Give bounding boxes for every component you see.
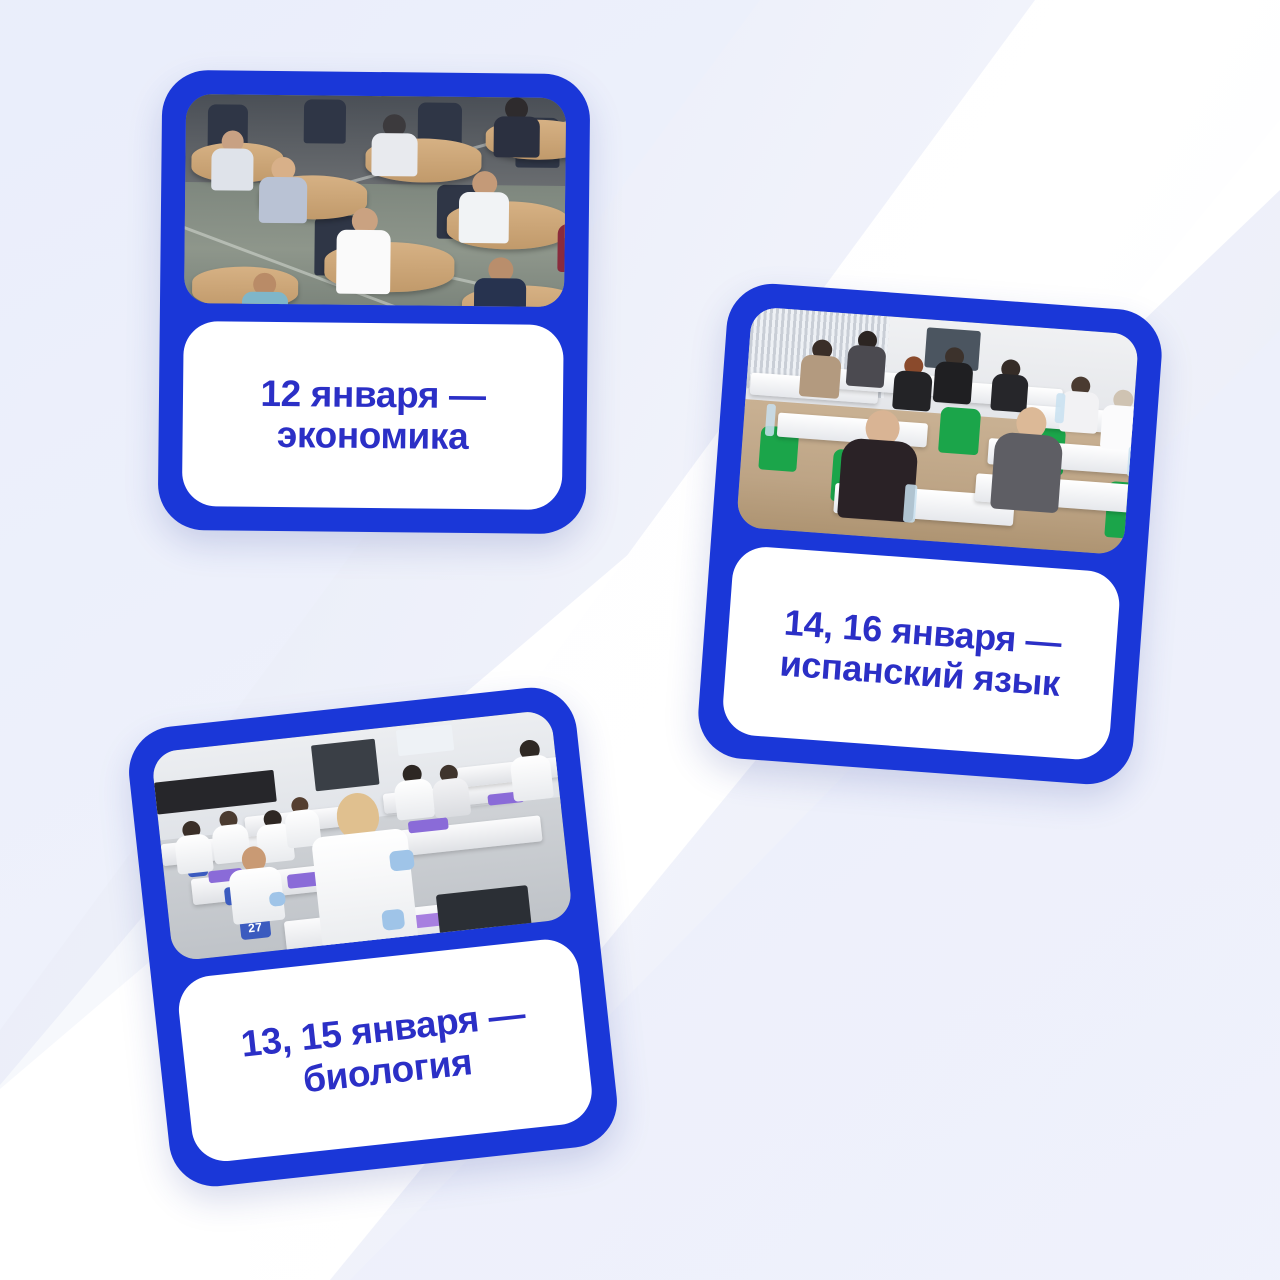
card-photo-biology: 33 30 27 bbox=[151, 710, 573, 962]
chair bbox=[304, 99, 346, 143]
participant bbox=[798, 338, 844, 399]
participant bbox=[173, 819, 214, 875]
green-chair bbox=[938, 406, 981, 455]
participant bbox=[492, 97, 543, 158]
photo-scene-exam-hall bbox=[184, 94, 566, 307]
card-label-biology: 13, 15 января — биология bbox=[175, 936, 595, 1164]
card-label-text: 13, 15 января — биология bbox=[239, 994, 532, 1107]
schedule-card-biology[interactable]: 33 30 27 bbox=[124, 683, 621, 1191]
participant bbox=[209, 130, 256, 190]
participant bbox=[508, 738, 554, 802]
participant bbox=[891, 355, 935, 412]
participant bbox=[226, 844, 286, 925]
participant bbox=[334, 208, 393, 295]
participant bbox=[472, 257, 529, 307]
participant bbox=[556, 206, 566, 272]
participant-foreground bbox=[307, 788, 420, 957]
water-bottle bbox=[1127, 446, 1138, 477]
card-label-spanish: 14, 16 января — испанский язык bbox=[721, 545, 1122, 762]
card-label-economics: 12 января — экономика bbox=[182, 321, 564, 510]
participant bbox=[1099, 388, 1139, 451]
wall-monitor bbox=[311, 739, 380, 792]
participant bbox=[845, 330, 889, 389]
card-photo-spanish bbox=[736, 306, 1139, 555]
schedule-card-economics[interactable]: 12 января — экономика bbox=[158, 70, 591, 534]
card-label-text: 14, 16 января — испанский язык bbox=[778, 603, 1064, 704]
card-photo-economics bbox=[184, 94, 566, 307]
photo-scene-classroom bbox=[736, 306, 1139, 555]
participant bbox=[932, 346, 976, 405]
card-label-text: 12 января — экономика bbox=[260, 373, 486, 458]
poster-canvas: 12 января — экономика bbox=[0, 0, 1280, 1280]
participant bbox=[240, 273, 291, 307]
schedule-card-spanish[interactable]: 14, 16 января — испанский язык bbox=[695, 281, 1165, 788]
participant bbox=[257, 157, 310, 224]
participant bbox=[430, 763, 471, 819]
photo-scene-laboratory: 33 30 27 bbox=[151, 710, 573, 962]
participant bbox=[369, 114, 420, 177]
participant bbox=[457, 171, 512, 244]
laptop bbox=[436, 885, 533, 943]
